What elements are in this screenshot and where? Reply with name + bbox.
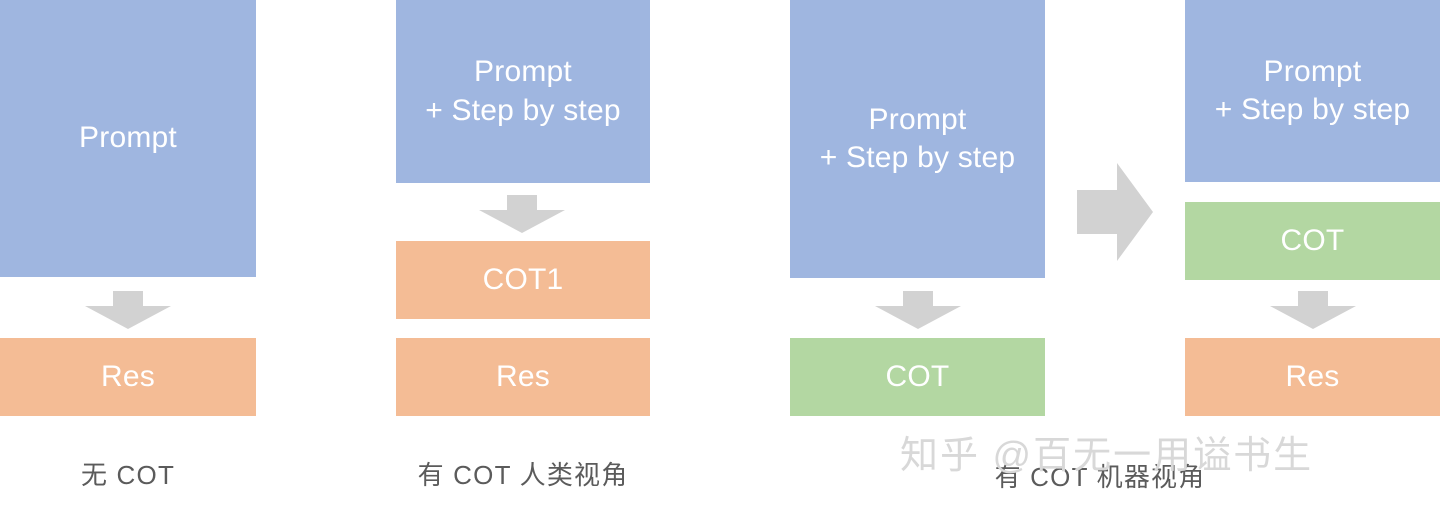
caption-col3: 有 COT 机器视角 xyxy=(955,462,1245,493)
arrow-down-icon-col3 xyxy=(875,291,961,329)
box-prompt-col1: Prompt xyxy=(0,0,256,277)
box-cot-col4: COT xyxy=(1185,202,1440,280)
arrow-right-icon xyxy=(1077,163,1153,261)
box-prompt-step-col4: Prompt + Step by step xyxy=(1185,0,1440,182)
box-res-col1: Res xyxy=(0,338,256,416)
arrow-down-icon-col1 xyxy=(85,291,171,329)
diagram-canvas: Prompt Res 无 COT Prompt + Step by step C… xyxy=(0,0,1440,514)
arrow-down-icon-col2 xyxy=(479,195,565,233)
box-cot1-col2: COT1 xyxy=(396,241,650,319)
arrow-down-icon-col4 xyxy=(1270,291,1356,329)
box-res-col4: Res xyxy=(1185,338,1440,416)
caption-col1: 无 COT xyxy=(0,460,256,491)
box-cot-col3: COT xyxy=(790,338,1045,416)
box-res-col2: Res xyxy=(396,338,650,416)
box-prompt-step-col2: Prompt + Step by step xyxy=(396,0,650,183)
box-prompt-step-col3: Prompt + Step by step xyxy=(790,0,1045,278)
caption-col2: 有 COT 人类视角 xyxy=(396,460,650,491)
